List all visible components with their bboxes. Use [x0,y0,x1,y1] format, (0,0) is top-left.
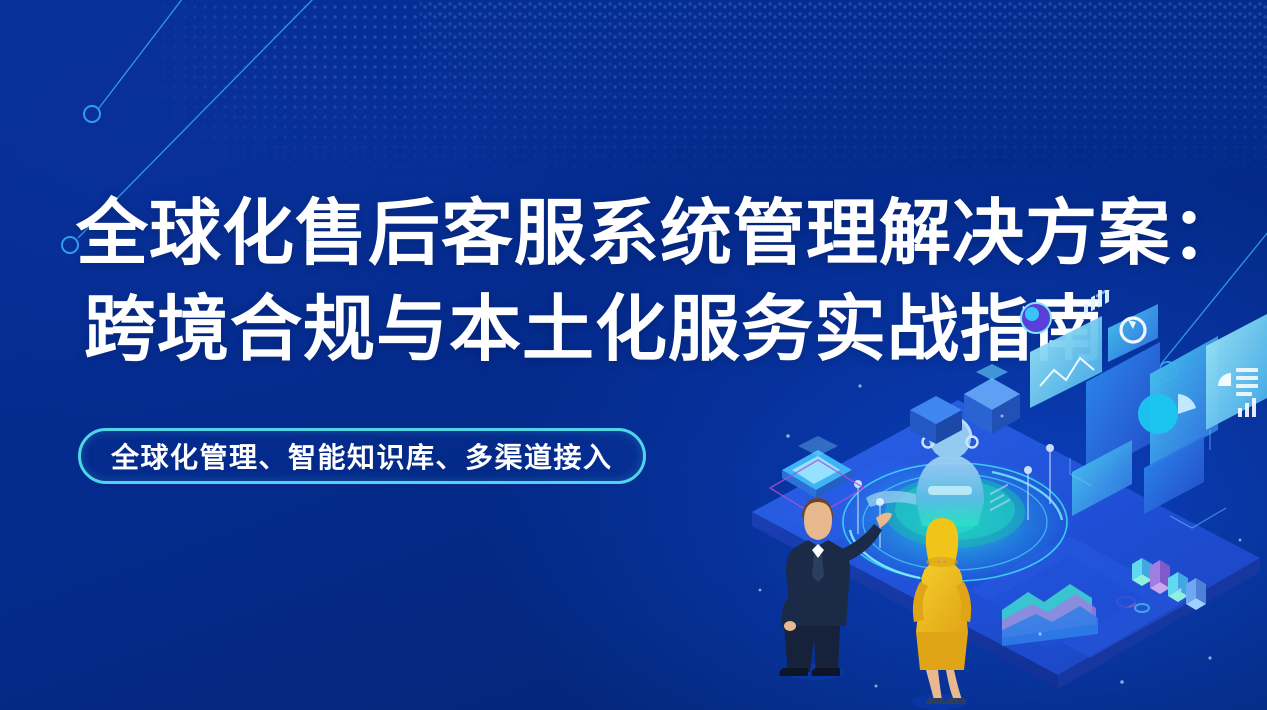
subtitle-pill[interactable]: 全球化管理、智能知识库、多渠道接入 [78,428,646,484]
subtitle-pill-label: 全球化管理、智能知识库、多渠道接入 [111,436,613,476]
poster-canvas: 全球化售后客服系统管理解决方案： 跨境合规与本土化服务实战指南 全球化管理、智能… [0,0,1267,710]
hero-title-line-1: 全球化售后客服系统管理解决方案： [76,186,1196,282]
isometric-ai-customer-service-illustration [740,290,1267,710]
document-list-panel [1206,314,1267,430]
floating-orb-icon [1021,303,1051,333]
square-dot-grid-texture-secondary [420,0,1267,144]
